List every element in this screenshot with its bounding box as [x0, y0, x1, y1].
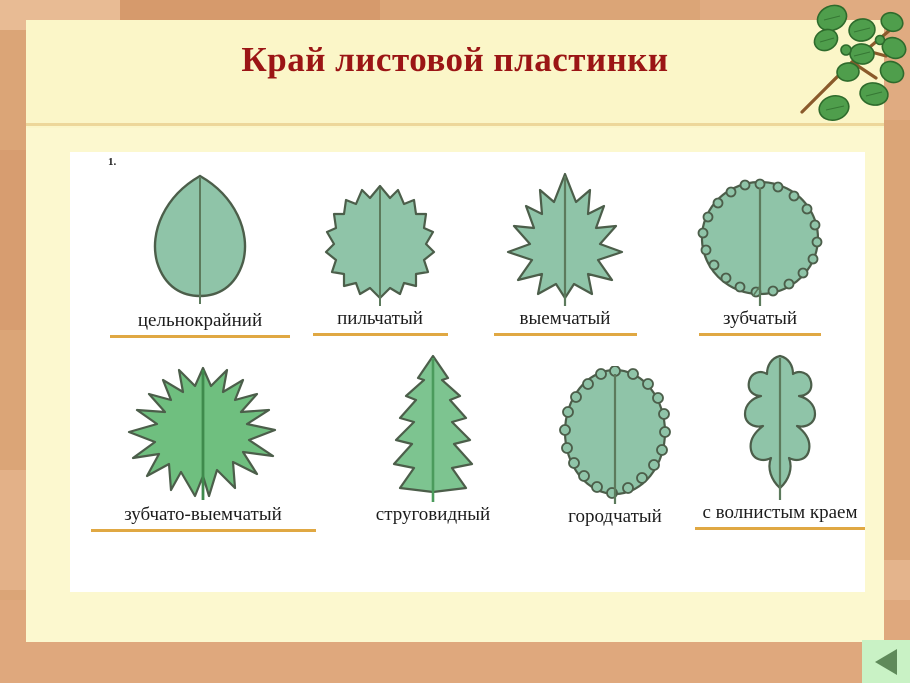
leaf-dentate-sinuate-icon	[123, 364, 283, 504]
leaf-label: пильчатый	[285, 308, 475, 329]
leaf-item-sinuate: выемчатый	[465, 168, 665, 336]
leaf-item-runcinate: струговидный	[338, 352, 528, 532]
illustration-panel: 1. цельнокрайний пильчатый выемчатый	[70, 152, 865, 592]
leaf-undulate-icon	[725, 350, 835, 502]
leaf-sinuate-icon	[500, 168, 630, 308]
leaf-label: струговидный	[338, 504, 528, 525]
leaf-item-dentate-sinuate: зубчато-выемчатый	[78, 364, 328, 532]
label-underline	[494, 333, 637, 336]
leaf-label: зубчатый	[660, 308, 860, 329]
title-divider	[26, 123, 884, 126]
triangle-left-icon	[875, 649, 897, 675]
leaf-label: выемчатый	[465, 308, 665, 329]
slide-viewer: Край листовой пластинки	[0, 0, 910, 683]
leaf-serrate-icon	[320, 180, 440, 308]
leaf-crenate-icon	[555, 366, 675, 506]
figure-number: 1.	[108, 156, 116, 168]
leaf-label: городчатый	[520, 506, 710, 527]
birch-branch-icon	[790, 0, 910, 125]
label-underline	[695, 527, 865, 530]
leaf-label: с волнистым краем	[695, 502, 865, 523]
label-underline	[91, 529, 316, 532]
label-underline	[699, 333, 821, 336]
leaf-dentate-icon	[693, 174, 827, 308]
leaf-entire-icon	[135, 170, 265, 310]
page-title: Край листовой пластинки	[26, 40, 884, 80]
leaf-label: цельнокрайний	[100, 310, 300, 331]
back-navigation-button[interactable]	[862, 640, 910, 683]
leaf-runcinate-icon	[378, 352, 488, 504]
leaf-label: зубчато-выемчатый	[78, 504, 328, 525]
background-texture	[120, 0, 380, 22]
leaf-item-serrate: пильчатый	[285, 180, 475, 336]
leaf-item-dentate: зубчатый	[660, 174, 860, 336]
leaf-item-entire: цельнокрайний	[100, 170, 300, 338]
label-underline	[313, 333, 448, 336]
leaf-item-undulate: с волнистым краем	[690, 350, 870, 530]
leaf-item-crenate: городчатый	[520, 366, 710, 534]
label-underline	[110, 335, 290, 338]
